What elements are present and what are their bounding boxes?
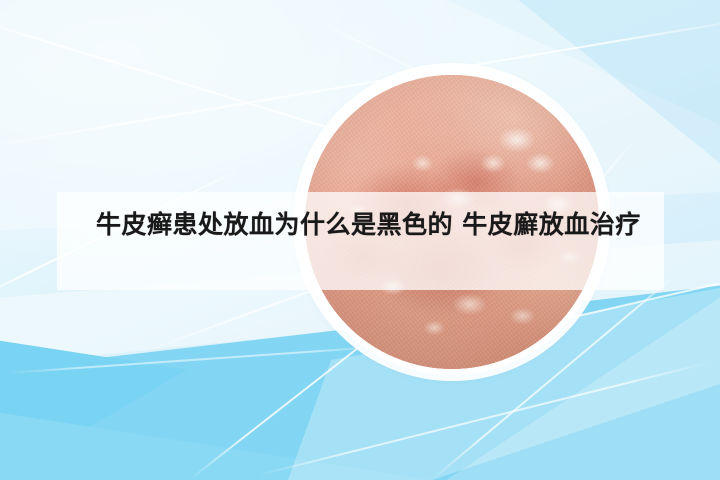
- page-title: 牛皮癣患处放血为什么是黑色的 牛皮廯放血治疗: [96, 206, 664, 244]
- thumbnail-canvas: 牛皮癣患处放血为什么是黑色的 牛皮廯放血治疗: [0, 0, 720, 480]
- headline-band: 牛皮癣患处放血为什么是黑色的 牛皮廯放血治疗: [57, 192, 664, 290]
